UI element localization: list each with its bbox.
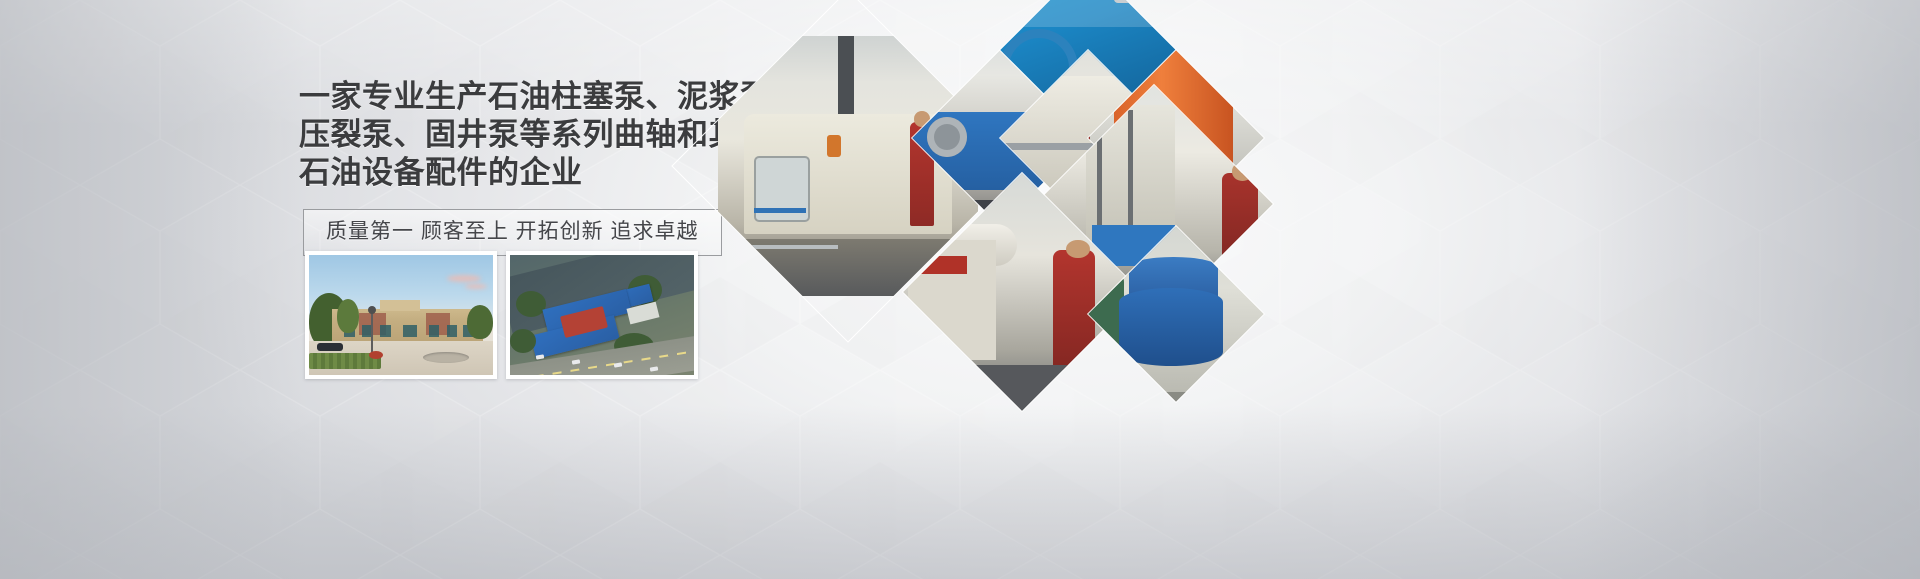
diamond-photo-collage <box>690 14 1310 434</box>
metal-part <box>1114 0 1176 3</box>
office-building-image <box>309 255 493 375</box>
headline-line-2: 压裂泵、固井泵等系列曲轴和其他 <box>299 116 729 154</box>
worker-head <box>1066 240 1089 258</box>
headline-line-3: 石油设备配件的企业 <box>299 154 729 192</box>
window-shape <box>429 325 440 337</box>
tree-cluster <box>516 291 546 317</box>
worker-red-uniform <box>1053 250 1095 370</box>
shop-floor <box>1088 392 1263 402</box>
blue-drum <box>1119 288 1223 366</box>
hero-banner: 一家专业生产石油柱塞泵、泥浆泵、 压裂泵、固井泵等系列曲轴和其他 石油设备配件的… <box>0 0 1920 579</box>
shop-floor <box>903 365 1141 411</box>
machine-crossbar <box>1000 0 1175 27</box>
cloud-shape <box>465 284 487 289</box>
orange-part <box>827 135 841 157</box>
aerial-factory-photo[interactable] <box>506 251 698 379</box>
car-shape <box>317 343 343 351</box>
window-shape <box>447 325 458 337</box>
office-building-photo[interactable] <box>305 251 497 379</box>
worker-red-uniform <box>1222 173 1258 277</box>
slogan-box: 质量第一 顾客至上 开拓创新 追求卓越 <box>303 209 722 256</box>
flower-bed <box>369 351 383 359</box>
tree-shape <box>337 299 359 333</box>
window-shape <box>380 325 391 337</box>
headline-line-1: 一家专业生产石油柱塞泵、泥浆泵、 <box>299 78 729 116</box>
tree-shape <box>467 305 493 339</box>
tree-cluster <box>510 329 536 353</box>
vehicle-shape <box>536 354 545 359</box>
headline-block: 一家专业生产石油柱塞泵、泥浆泵、 压裂泵、固井泵等系列曲轴和其他 石油设备配件的… <box>299 78 729 192</box>
blue-label-strip <box>754 208 806 213</box>
slogan-text: 质量第一 顾客至上 开拓创新 追求卓越 <box>326 219 699 245</box>
safety-rail <box>749 245 837 249</box>
window-shape <box>403 325 417 337</box>
thumbnail-row <box>305 251 698 379</box>
cloud-shape <box>447 275 481 282</box>
fountain-shape <box>423 352 469 363</box>
press-rod <box>1128 110 1133 230</box>
street-lamp <box>371 311 373 355</box>
aerial-factory-image <box>510 255 694 375</box>
